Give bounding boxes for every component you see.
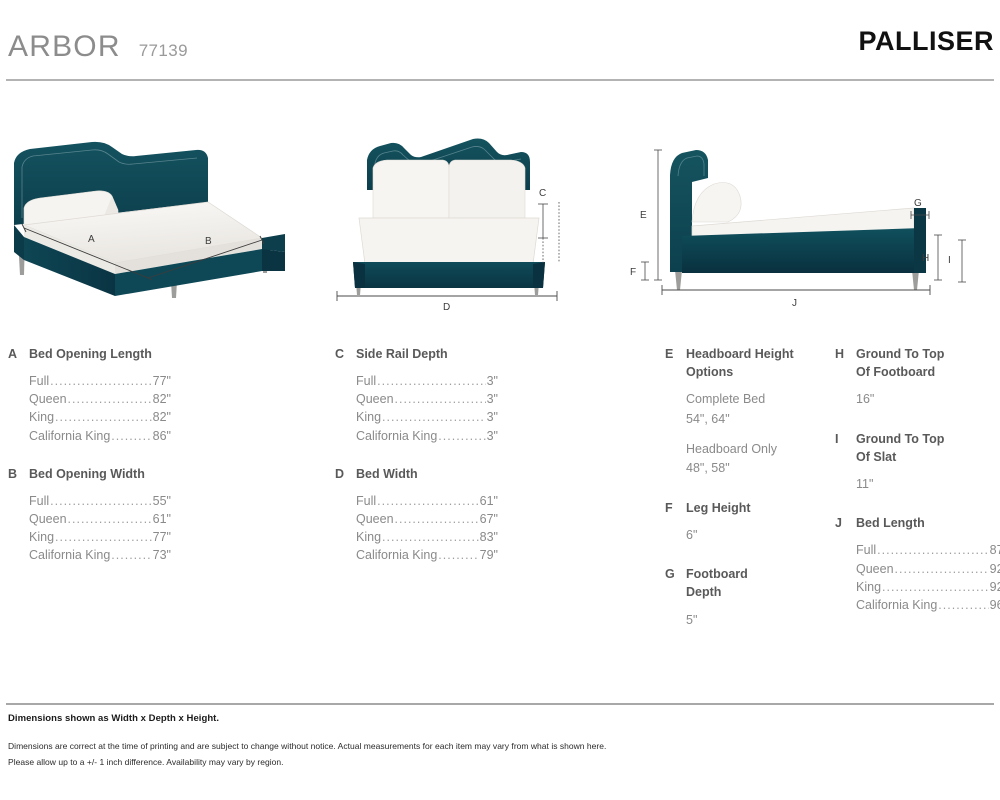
- dimension-label-d: D: [443, 302, 450, 313]
- spec-values: Complete Bed 54", 64" Headboard Only 48"…: [686, 390, 835, 479]
- spec-row-value: 79": [480, 546, 498, 564]
- dimension-label-j: J: [792, 298, 797, 309]
- dot-leader: ........................................…: [50, 372, 152, 390]
- dot-leader: ........................................…: [877, 541, 989, 559]
- pillow: [449, 160, 525, 218]
- spec-row-value: 61": [153, 510, 171, 528]
- spec-row-label: California King: [356, 546, 437, 564]
- spec-row: California King ........................…: [356, 546, 498, 564]
- spec-row-value: 77": [153, 372, 171, 390]
- spec-letter: D: [335, 465, 347, 483]
- spec-row-value: 82": [153, 408, 171, 426]
- spec-row: California King ........................…: [29, 546, 171, 564]
- spec-group-a: A Bed Opening Length Full ..............…: [8, 345, 308, 445]
- spec-row-value: 3": [487, 427, 498, 445]
- spec-column-2: C Side Rail Depth Full .................…: [335, 345, 635, 584]
- bed-rail-corner: [353, 262, 365, 288]
- spec-row: Full ...................................…: [29, 492, 171, 510]
- spec-row-value: 96": [990, 596, 1000, 614]
- spec-row-value: 61": [480, 492, 498, 510]
- footer-disclaimer: Dimensions are correct at the time of pr…: [8, 739, 606, 770]
- bed-leg: [675, 270, 682, 290]
- footer-disclaimer-line-2: Please allow up to a +/- 1 inch differen…: [8, 755, 606, 771]
- spec-rows: Full ...................................…: [856, 541, 1000, 614]
- spec-row: Queen ..................................…: [29, 390, 171, 408]
- spec-row-label: Queen: [356, 390, 394, 408]
- dot-leader: ........................................…: [111, 546, 151, 564]
- spec-title: Footboard Depth: [686, 565, 764, 601]
- front-bed-illustration: C D: [325, 130, 575, 320]
- spec-letter: J: [835, 514, 847, 532]
- page-header: ARBOR 77139 PALLISER: [0, 0, 1000, 80]
- spec-row-value: 83": [480, 528, 498, 546]
- pillow: [373, 160, 449, 218]
- spec-group-header: B Bed Opening Width: [8, 465, 308, 483]
- spec-subblock: Headboard Only 48", 58": [686, 440, 835, 479]
- dimension-line-i: [958, 240, 966, 282]
- spec-row-label: Queen: [356, 510, 394, 528]
- bed-footboard-shade: [262, 249, 285, 271]
- dot-leader: ........................................…: [438, 546, 478, 564]
- spec-letter: A: [8, 345, 20, 363]
- spec-row-value: 77": [153, 528, 171, 546]
- spec-caption: Complete Bed: [686, 390, 835, 409]
- header-divider: [6, 79, 994, 81]
- perspective-bed-illustration: A B: [0, 130, 310, 320]
- dimension-label-b: B: [205, 236, 212, 247]
- spec-group-f: F Leg Height 6": [665, 499, 835, 546]
- pillow: [692, 183, 741, 223]
- dimension-label-e: E: [640, 210, 647, 221]
- dimension-line-e: [654, 150, 662, 280]
- spec-letter: G: [665, 565, 677, 583]
- spec-row-label: Full: [29, 372, 49, 390]
- spec-value: 6": [686, 526, 835, 545]
- footer-disclaimer-line-1: Dimensions are correct at the time of pr…: [8, 739, 606, 755]
- dimension-line-d: [337, 291, 557, 301]
- spec-group-d: D Bed Width Full .......................…: [335, 465, 635, 565]
- dimension-line-h: [934, 235, 942, 280]
- spec-group-b: B Bed Opening Width Full ...............…: [8, 465, 308, 565]
- spec-column-3: E Headboard Height Options Complete Bed …: [665, 345, 835, 650]
- spec-column-4: H Ground To Top Of Footboard 16" I Groun…: [835, 345, 1000, 634]
- spec-title: Headboard Height Options: [686, 345, 835, 381]
- spec-group-header: G Footboard Depth: [665, 565, 835, 601]
- spec-row-label: California King: [29, 546, 110, 564]
- spec-group-header: J Bed Length: [835, 514, 1000, 532]
- spec-row-label: Full: [356, 492, 376, 510]
- spec-group-header: C Side Rail Depth: [335, 345, 635, 363]
- spec-row-value: 3": [487, 408, 498, 426]
- spec-group-g: G Footboard Depth 5": [665, 565, 835, 630]
- dot-leader: ........................................…: [395, 390, 486, 408]
- dot-leader: ........................................…: [895, 560, 989, 578]
- spec-group-e: E Headboard Height Options Complete Bed …: [665, 345, 835, 479]
- bed-rail: [353, 262, 545, 288]
- spec-group-header: F Leg Height: [665, 499, 835, 517]
- dimension-line-f: [641, 262, 649, 280]
- spec-value: 16": [856, 390, 1000, 409]
- spec-letter: H: [835, 345, 847, 363]
- spec-value: 5": [686, 611, 835, 630]
- spec-row-value: 92": [990, 578, 1000, 596]
- spec-row: King ...................................…: [356, 408, 498, 426]
- spec-row: King ...................................…: [29, 408, 171, 426]
- dimension-label-h: H: [922, 253, 929, 264]
- spec-title: Ground To Top Of Footboard: [856, 345, 960, 381]
- spec-group-h: H Ground To Top Of Footboard 16": [835, 345, 1000, 410]
- spec-letter: C: [335, 345, 347, 363]
- spec-rows: Full ...................................…: [356, 372, 498, 445]
- title-group: ARBOR 77139: [8, 32, 188, 62]
- spec-row-label: Queen: [856, 560, 894, 578]
- spec-value: 11": [856, 475, 1000, 494]
- spec-row: Queen ..................................…: [856, 560, 1000, 578]
- spec-group-c: C Side Rail Depth Full .................…: [335, 345, 635, 445]
- spec-row-label: California King: [29, 427, 110, 445]
- mattress-top: [359, 218, 539, 264]
- bed-rail-corner: [533, 262, 545, 288]
- spec-row-label: California King: [356, 427, 437, 445]
- dimension-label-g: G: [914, 198, 922, 209]
- spec-row: Full ...................................…: [856, 541, 1000, 559]
- spec-row-value: 87": [990, 541, 1000, 559]
- spec-group-header: D Bed Width: [335, 465, 635, 483]
- dot-leader: ........................................…: [395, 510, 479, 528]
- spec-row: Queen ..................................…: [356, 390, 498, 408]
- spec-rows: Full ...................................…: [29, 372, 171, 445]
- footer-note: Dimensions shown as Width x Depth x Heig…: [8, 713, 219, 724]
- spec-row-value: 55": [153, 492, 171, 510]
- spec-row: Queen ..................................…: [29, 510, 171, 528]
- product-code: 77139: [139, 42, 188, 59]
- spec-row: Queen ..................................…: [356, 510, 498, 528]
- spec-title: Bed Length: [856, 514, 925, 532]
- spec-rows: Full ...................................…: [29, 492, 171, 565]
- brand-logo: PALLISER: [858, 28, 994, 55]
- spec-group-header: E Headboard Height Options: [665, 345, 835, 381]
- spec-title: Bed Opening Width: [29, 465, 145, 483]
- spec-title: Bed Width: [356, 465, 418, 483]
- dot-leader: ........................................…: [938, 596, 988, 614]
- dot-leader: ........................................…: [882, 578, 989, 596]
- spec-row: King ...................................…: [856, 578, 1000, 596]
- spec-row-value: 86": [153, 427, 171, 445]
- spec-row-label: Full: [356, 372, 376, 390]
- spec-column-1: A Bed Opening Length Full ..............…: [8, 345, 308, 584]
- spec-row-label: Queen: [29, 510, 67, 528]
- spec-letter: I: [835, 430, 847, 448]
- dot-leader: ........................................…: [382, 528, 479, 546]
- spec-row: King ...................................…: [29, 528, 171, 546]
- dot-leader: ........................................…: [55, 408, 152, 426]
- illustration-band: A B: [0, 120, 1000, 320]
- spec-value: 48", 58": [686, 459, 835, 478]
- spec-row-label: Queen: [29, 390, 67, 408]
- spec-letter: E: [665, 345, 677, 363]
- spec-rows: Full ...................................…: [356, 492, 498, 565]
- spec-row: Full ...................................…: [356, 492, 498, 510]
- dot-leader: ........................................…: [50, 492, 152, 510]
- spec-row-label: Full: [856, 541, 876, 559]
- spec-caption: Headboard Only: [686, 440, 835, 459]
- spec-row-value: 92": [990, 560, 1000, 578]
- spec-row-value: 67": [480, 510, 498, 528]
- dot-leader: ........................................…: [377, 492, 479, 510]
- dimension-line-c: [538, 202, 559, 263]
- spec-letter: B: [8, 465, 20, 483]
- spec-row-label: King: [856, 578, 881, 596]
- spec-subblock: Complete Bed 54", 64": [686, 390, 835, 429]
- spec-title: Bed Opening Length: [29, 345, 152, 363]
- spec-letter: F: [665, 499, 677, 517]
- spec-row: Full ...................................…: [356, 372, 498, 390]
- spec-row: California King ........................…: [29, 427, 171, 445]
- spec-row: California King ........................…: [856, 596, 1000, 614]
- spec-row-value: 3": [487, 372, 498, 390]
- spec-group-j: J Bed Length Full ......................…: [835, 514, 1000, 614]
- dimension-label-a: A: [88, 234, 95, 245]
- dimension-line-j: [662, 285, 930, 295]
- spec-row-label: King: [29, 408, 54, 426]
- bed-rail: [14, 225, 24, 260]
- spec-title: Side Rail Depth: [356, 345, 448, 363]
- side-bed-illustration: E F G H: [630, 130, 1000, 320]
- bed-footboard: [262, 234, 285, 252]
- spec-row-value: 82": [153, 390, 171, 408]
- spec-row: King ...................................…: [356, 528, 498, 546]
- spec-row: California King ........................…: [356, 427, 498, 445]
- spec-row-label: King: [356, 408, 381, 426]
- dimension-label-i: I: [948, 255, 951, 266]
- dot-leader: ........................................…: [438, 427, 485, 445]
- spec-group-header: A Bed Opening Length: [8, 345, 308, 363]
- spec-value: 54", 64": [686, 410, 835, 429]
- dimension-label-f: F: [630, 267, 636, 278]
- dimension-label-c: C: [539, 188, 546, 199]
- spec-group-header: I Ground To Top Of Slat: [835, 430, 1000, 466]
- dot-leader: ........................................…: [382, 408, 486, 426]
- spec-row-value: 73": [153, 546, 171, 564]
- spec-row-label: California King: [856, 596, 937, 614]
- dot-leader: ........................................…: [68, 390, 152, 408]
- spec-title: Ground To Top Of Slat: [856, 430, 960, 466]
- spec-row-label: Full: [29, 492, 49, 510]
- spec-row-label: King: [29, 528, 54, 546]
- spec-row-label: King: [356, 528, 381, 546]
- dot-leader: ........................................…: [377, 372, 485, 390]
- spec-group-i: I Ground To Top Of Slat 11": [835, 430, 1000, 495]
- page-title: ARBOR: [8, 32, 121, 62]
- spec-row-value: 3": [487, 390, 498, 408]
- dot-leader: ........................................…: [111, 427, 151, 445]
- spec-row: Full ...................................…: [29, 372, 171, 390]
- spec-group-header: H Ground To Top Of Footboard: [835, 345, 1000, 381]
- footer-divider: [6, 703, 994, 705]
- spec-title: Leg Height: [686, 499, 751, 517]
- dot-leader: ........................................…: [55, 528, 152, 546]
- dot-leader: ........................................…: [68, 510, 152, 528]
